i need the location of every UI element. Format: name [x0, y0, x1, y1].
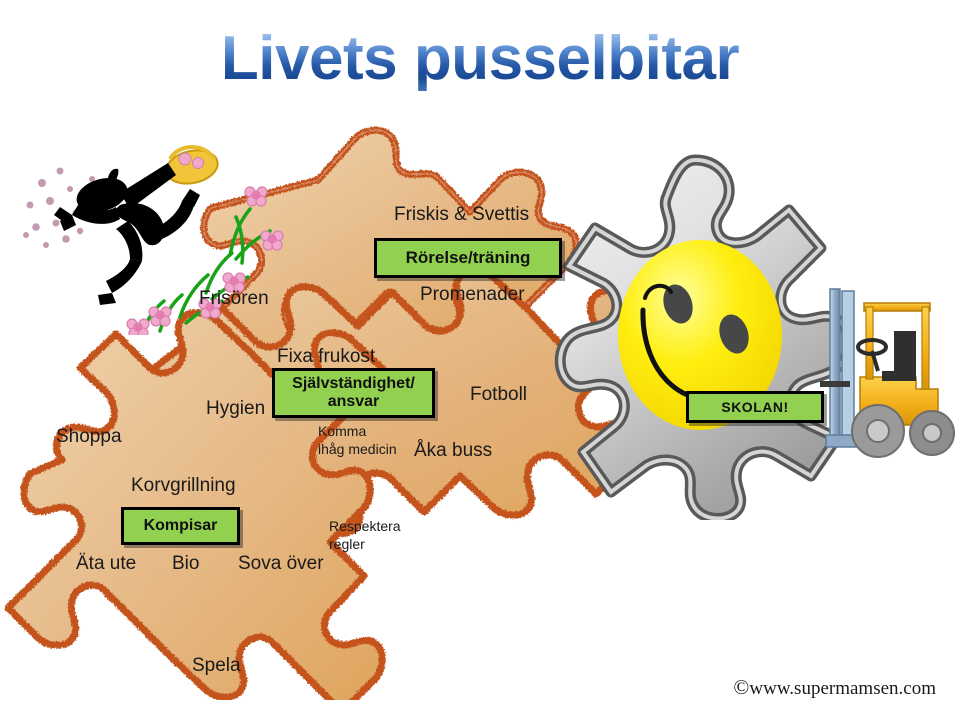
- caption-promenader: Promenader: [420, 284, 525, 306]
- caption-spela: Spela: [192, 655, 241, 677]
- forklift-icon: [820, 285, 960, 475]
- caption-shoppa: Shoppa: [56, 426, 122, 448]
- credit-url: www.supermamsen.com: [749, 678, 936, 699]
- caption-sova-over: Sova över: [238, 553, 324, 575]
- caption-respektera-regler: Respektera regler: [329, 518, 401, 553]
- gray-puzzle-piece-skolan[interactable]: [545, 150, 865, 520]
- stick-figure-icon: [54, 163, 200, 305]
- label-sjalvstandighet-ansvar[interactable]: Självständighet/ ansvar: [272, 368, 435, 418]
- caption-fixa-frukost: Fixa frukost: [277, 346, 375, 368]
- caption-korvgrillning: Korvgrillning: [131, 475, 236, 497]
- basket-icon: [163, 146, 221, 188]
- label-skolan[interactable]: SKOLAN!: [686, 391, 824, 423]
- copyright-icon: ©: [733, 675, 749, 699]
- caption-friskis-svettis: Friskis & Svettis: [394, 204, 529, 226]
- label-kompisar[interactable]: Kompisar: [121, 507, 240, 545]
- slide-canvas: Livets pusselbitar Livets pusselbitar: [0, 0, 960, 720]
- label-rorelse-traning[interactable]: Rörelse/träning: [374, 238, 562, 278]
- caption-bio: Bio: [172, 553, 199, 575]
- caption-komma-ihag-medicin: Komma ihåg medicin: [318, 423, 397, 458]
- page-title: Livets pusselbitar: [0, 26, 960, 91]
- caption-frisoren: Frisören: [199, 288, 269, 310]
- caption-ata-ute: Äta ute: [76, 553, 136, 575]
- caption-aka-buss: Åka buss: [414, 440, 492, 462]
- caption-hygien: Hygien: [206, 398, 265, 420]
- copyright-credit: ©www.supermamsen.com: [733, 675, 936, 700]
- caption-fotboll: Fotboll: [470, 384, 527, 406]
